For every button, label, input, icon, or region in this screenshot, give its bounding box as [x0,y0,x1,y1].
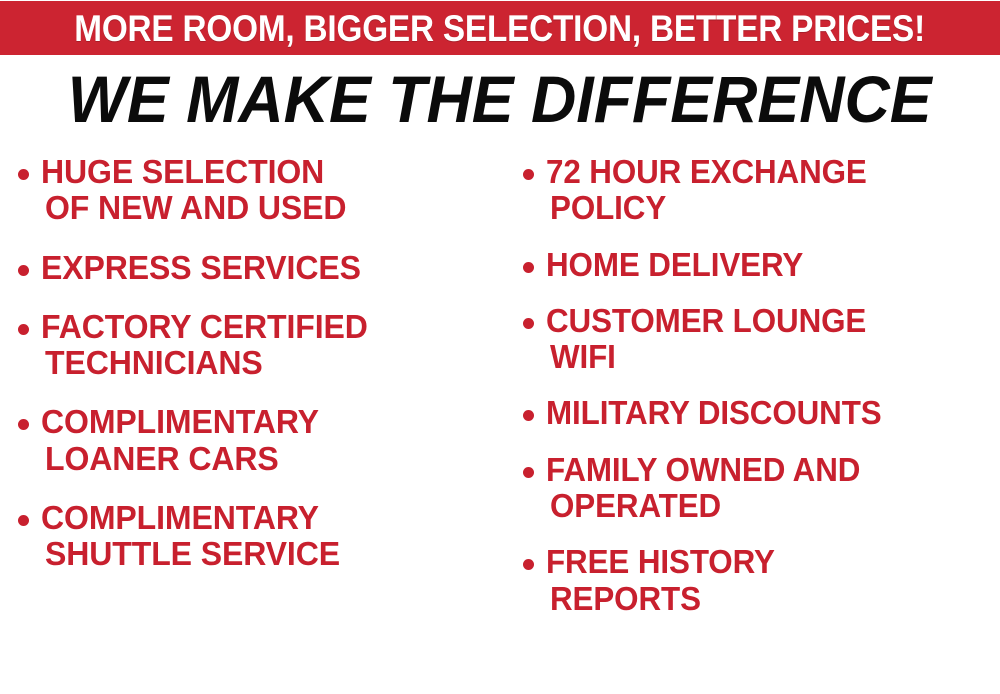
benefit-text: COMPLIMENTARYLOANER CARS [41,404,501,477]
benefit-text-line: HUGE SELECTION [41,154,487,190]
benefit-text-line: EXPRESS SERVICES [41,250,487,286]
benefit-text-line: OPERATED [550,488,978,524]
benefit-text: FAMILY OWNED ANDOPERATED [546,452,1000,525]
benefit-text-line: MILITARY DISCOUNTS [546,395,977,431]
benefit-text: COMPLIMENTARYSHUTTLE SERVICE [41,500,501,573]
benefit-text: EXPRESS SERVICES [41,250,501,286]
benefit-item: HUGE SELECTIONOF NEW AND USED [18,154,501,227]
benefit-item: FACTORY CERTIFIEDTECHNICIANS [18,309,501,382]
benefit-text-line: OF NEW AND USED [45,190,487,226]
benefit-item: FAMILY OWNED ANDOPERATED [523,452,1000,525]
benefits-column-right: 72 HOUR EXCHANGEPOLICYHOME DELIVERYCUSTO… [505,154,1000,637]
benefit-item: EXPRESS SERVICES [18,250,501,286]
benefit-text-line: 72 HOUR EXCHANGE [546,154,977,190]
benefit-text-line: COMPLIMENTARY [41,500,487,536]
benefit-item: 72 HOUR EXCHANGEPOLICY [523,154,1000,227]
promo-poster: MORE ROOM, BIGGER SELECTION, BETTER PRIC… [0,0,1000,694]
bullet-dot-icon [18,169,29,180]
bullet-dot-icon [523,318,534,329]
bullet-dot-icon [523,169,534,180]
benefit-text-line: SHUTTLE SERVICE [45,536,487,572]
bullet-dot-icon [523,262,534,273]
benefits-columns: HUGE SELECTIONOF NEW AND USEDEXPRESS SER… [0,154,1000,694]
benefit-item: COMPLIMENTARYSHUTTLE SERVICE [18,500,501,573]
benefit-text: HUGE SELECTIONOF NEW AND USED [41,154,501,227]
benefit-text-line: COMPLIMENTARY [41,404,487,440]
benefit-text: FACTORY CERTIFIEDTECHNICIANS [41,309,501,382]
banner-headline: MORE ROOM, BIGGER SELECTION, BETTER PRIC… [75,10,926,47]
benefit-text-line: TECHNICIANS [45,345,487,381]
bullet-dot-icon [18,515,29,526]
benefit-text-line: FREE HISTORY [546,544,977,580]
benefit-item: CUSTOMER LOUNGEWIFI [523,303,1000,376]
bullet-dot-icon [18,419,29,430]
benefit-text-line: LOANER CARS [45,441,487,477]
benefit-text: MILITARY DISCOUNTS [546,395,1000,431]
benefit-text-line: REPORTS [550,581,978,617]
benefit-item: MILITARY DISCOUNTS [523,395,1000,431]
page-title: WE MAKE THE DIFFERENCE [0,66,1000,132]
bullet-dot-icon [523,410,534,421]
benefit-text-line: HOME DELIVERY [546,247,977,283]
benefit-text-line: CUSTOMER LOUNGE [546,303,977,339]
bullet-dot-icon [523,559,534,570]
benefit-text-line: FAMILY OWNED AND [546,452,977,488]
benefit-text: FREE HISTORYREPORTS [546,544,1000,617]
benefit-text-line: FACTORY CERTIFIED [41,309,487,345]
benefit-item: FREE HISTORYREPORTS [523,544,1000,617]
bullet-dot-icon [523,467,534,478]
page-title-text: WE MAKE THE DIFFERENCE [68,66,932,132]
bullet-dot-icon [18,324,29,335]
benefit-item: HOME DELIVERY [523,247,1000,283]
benefit-text: 72 HOUR EXCHANGEPOLICY [546,154,1000,227]
benefit-item: COMPLIMENTARYLOANER CARS [18,404,501,477]
bullet-dot-icon [18,265,29,276]
benefit-text-line: POLICY [550,190,978,226]
benefit-text: HOME DELIVERY [546,247,1000,283]
benefits-column-left: HUGE SELECTIONOF NEW AND USEDEXPRESS SER… [0,154,505,596]
top-banner: MORE ROOM, BIGGER SELECTION, BETTER PRIC… [0,1,1000,55]
benefit-text: CUSTOMER LOUNGEWIFI [546,303,1000,376]
benefit-text-line: WIFI [550,339,978,375]
